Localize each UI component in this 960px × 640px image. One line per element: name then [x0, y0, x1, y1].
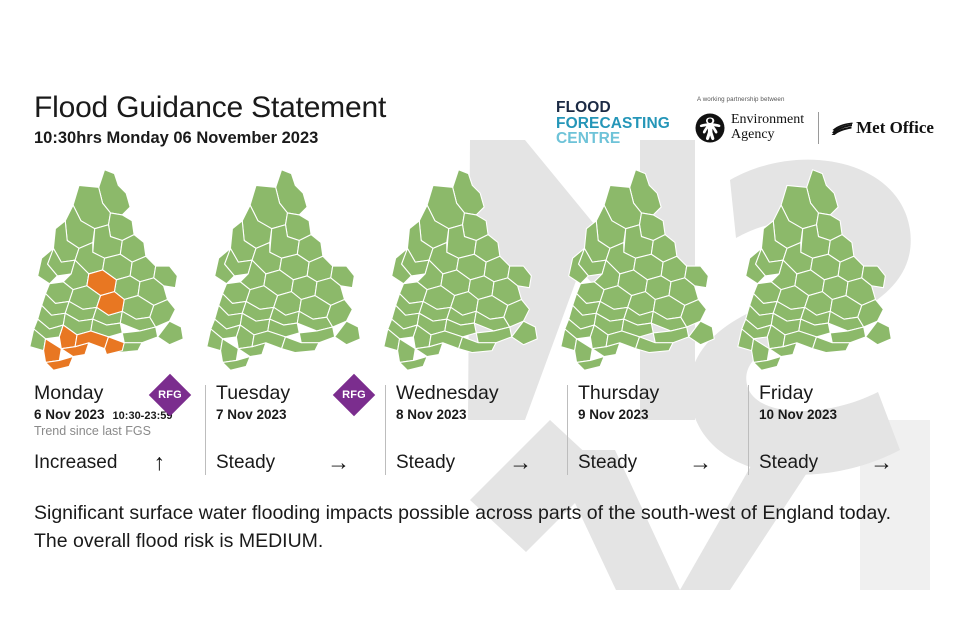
day-column-wednesday[interactable]: Wednesday 8 Nov 2023 Steady → [396, 383, 568, 483]
arrow-right-icon: → [870, 451, 893, 474]
day-status-row: Steady → [578, 451, 712, 474]
logo-divider [818, 112, 819, 144]
map-friday-svg [728, 162, 905, 377]
met-office-waves-icon [831, 122, 853, 135]
day-column-thursday[interactable]: Thursday 9 Nov 2023 Steady → [578, 383, 748, 483]
day-status: Steady [396, 452, 455, 474]
arrow-right-icon: → [327, 451, 350, 474]
summary-statement: Significant surface water flooding impac… [34, 500, 904, 555]
rfg-badge-label: RFG [148, 373, 192, 417]
day-date: 10 Nov 2023 [759, 407, 837, 422]
day-date-line: 9 Nov 2023 [578, 407, 748, 422]
ffc-logo-line-2: FORECASTING [556, 116, 670, 132]
map-wednesday[interactable] [374, 162, 551, 377]
day-status: Increased [34, 452, 117, 474]
day-divider-1 [205, 385, 206, 475]
map-tuesday-svg [197, 162, 374, 377]
partner-logos-row: Environment Agency Met Office [695, 112, 935, 144]
map-tuesday[interactable] [197, 162, 374, 377]
ffc-logo-line-3: CENTRE [556, 131, 670, 147]
day-status-row: Steady → [216, 451, 350, 474]
map-wednesday-svg [374, 162, 551, 377]
ea-wordmark-line-1: Environment [731, 113, 804, 128]
flood-guidance-statement-page: Flood Guidance Statement 10:30hrs Monday… [0, 0, 960, 640]
title-block: Flood Guidance Statement 10:30hrs Monday… [34, 92, 386, 148]
day-date: 9 Nov 2023 [578, 407, 649, 422]
day-status-row: Steady → [396, 451, 532, 474]
day-name: Friday [759, 383, 939, 403]
page-title: Flood Guidance Statement [34, 92, 386, 124]
rfg-badge-monday[interactable]: RFG [148, 373, 192, 417]
day-column-monday[interactable]: Monday 6 Nov 2023 10:30-23:59 Trend sinc… [34, 383, 204, 483]
day-divider-4 [748, 385, 749, 475]
day-column-friday[interactable]: Friday 10 Nov 2023 Steady → [759, 383, 939, 483]
rfg-badge-label: RFG [332, 373, 376, 417]
rfg-badge-tuesday[interactable]: RFG [332, 373, 376, 417]
trend-since-last-fgs-label: Trend since last FGS [34, 424, 204, 438]
ffc-logo-line-1: FLOOD [556, 100, 670, 116]
day-divider-3 [567, 385, 568, 475]
day-name: Thursday [578, 383, 748, 403]
environment-agency-wordmark: Environment Agency [731, 113, 804, 142]
day-status: Steady [759, 452, 818, 474]
environment-agency-logo: Environment Agency [695, 113, 804, 143]
environment-agency-emblem-icon [695, 113, 725, 143]
map-monday[interactable] [20, 162, 197, 377]
forecast-maps-row [0, 162, 960, 377]
issue-timestamp: 10:30hrs Monday 06 November 2023 [34, 129, 386, 148]
map-thursday[interactable] [551, 162, 728, 377]
day-date: 7 Nov 2023 [216, 407, 287, 422]
map-thursday-svg [551, 162, 728, 377]
day-status: Steady [216, 452, 275, 474]
map-friday[interactable] [728, 162, 905, 377]
partnership-caption: A working partnership between [697, 96, 935, 103]
day-status-row: Steady → [759, 451, 893, 474]
day-date-line: 10 Nov 2023 [759, 407, 939, 422]
day-date: 6 Nov 2023 [34, 407, 105, 422]
day-date-line: 8 Nov 2023 [396, 407, 568, 422]
flood-forecasting-centre-logo: FLOOD FORECASTING CENTRE [556, 100, 670, 147]
day-status: Steady [578, 452, 637, 474]
forecast-days-row: Monday 6 Nov 2023 10:30-23:59 Trend sinc… [0, 383, 960, 483]
met-office-logo: Met Office [831, 118, 934, 138]
ea-wordmark-line-2: Agency [731, 128, 804, 143]
arrow-up-icon: ↑ [153, 451, 165, 474]
arrow-right-icon: → [509, 451, 532, 474]
arrow-right-icon: → [689, 451, 712, 474]
day-divider-2 [385, 385, 386, 475]
partnership-block: A working partnership between Environmen… [695, 96, 935, 144]
day-date: 8 Nov 2023 [396, 407, 467, 422]
day-column-tuesday[interactable]: Tuesday 7 Nov 2023 Steady → RFG [216, 383, 386, 483]
map-monday-svg [20, 162, 197, 377]
day-name: Wednesday [396, 383, 568, 403]
page-header: Flood Guidance Statement 10:30hrs Monday… [0, 0, 960, 165]
met-office-wordmark: Met Office [856, 118, 934, 138]
day-status-row: Increased ↑ [34, 451, 165, 474]
